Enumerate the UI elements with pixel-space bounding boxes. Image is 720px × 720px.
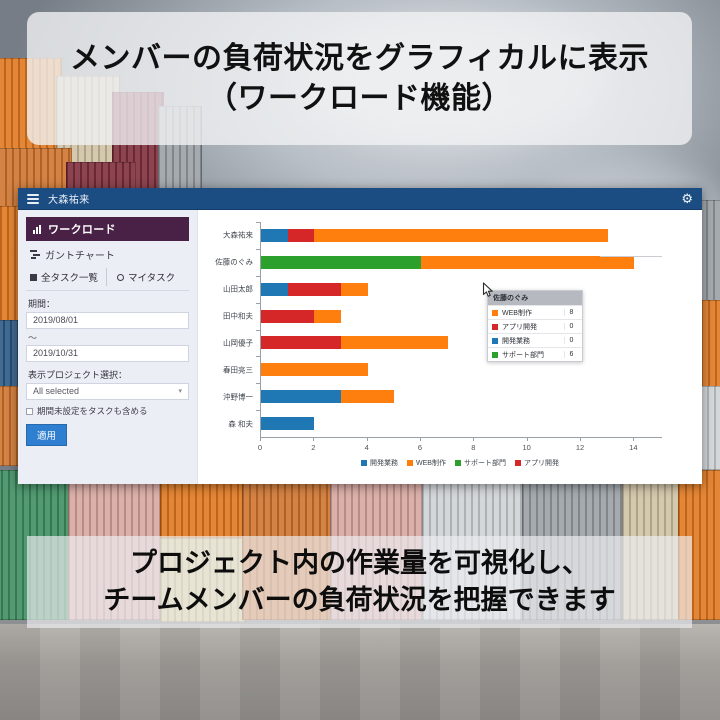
circle-icon	[117, 274, 124, 281]
sidebar-tabs: 全タスク一覧 マイタスク	[26, 268, 189, 291]
tooltip-row: 開発業務0	[488, 333, 582, 347]
square-icon	[30, 274, 37, 281]
tab-my-tasks[interactable]: マイタスク	[106, 268, 183, 286]
x-tick-label: 0	[258, 443, 262, 452]
chevron-down-icon: ▾	[178, 384, 182, 399]
project-select-value: All selected	[33, 384, 79, 399]
tab-all-tasks-label: 全タスク一覧	[41, 270, 98, 284]
x-tick	[367, 437, 368, 441]
tooltip-value: 8	[564, 309, 578, 316]
sidebar-item-gantt-chart[interactable]: ガントチャート	[26, 241, 189, 268]
include-unset-period-checkbox[interactable]	[26, 408, 33, 415]
apply-button[interactable]: 適用	[26, 424, 67, 446]
tooltip-swatch	[492, 324, 498, 330]
x-tick	[527, 437, 528, 441]
x-tick	[580, 437, 581, 441]
bar-segment[interactable]	[314, 229, 607, 242]
tooltip-value: 0	[564, 323, 578, 330]
legend-swatch	[361, 460, 367, 466]
y-axis-label: 山岡優子	[223, 337, 253, 348]
x-tick-label: 14	[629, 443, 637, 452]
x-tick-label: 10	[522, 443, 530, 452]
y-axis-label: 大森祐来	[223, 230, 253, 241]
date-from-input[interactable]: 2019/08/01	[26, 312, 189, 329]
tab-all-tasks[interactable]: 全タスク一覧	[26, 268, 106, 286]
x-tick	[473, 437, 474, 441]
chart-tooltip: 佐藤のぐみ WEB制作8アプリ開発0開発業務0サポート部門6	[487, 290, 583, 362]
x-tick	[633, 437, 634, 441]
period-label: 期間：	[28, 297, 189, 310]
y-axis-label: 佐藤のぐみ	[215, 257, 253, 268]
app-window-screenshot: 大森祐来 ⚙ ワークロード ガントチャート 全タスク一覧 マイタスク	[18, 188, 702, 484]
y-axis-label: 森 和夫	[228, 418, 253, 429]
legend-label: アプリ開発	[524, 458, 559, 468]
x-tick	[420, 437, 421, 441]
x-tick-label: 12	[576, 443, 584, 452]
legend-swatch	[407, 460, 413, 466]
include-unset-period-row[interactable]: 期間未設定をタスクも含める	[26, 405, 189, 417]
bar-segment[interactable]	[261, 363, 368, 376]
tooltip-value: 6	[564, 351, 578, 358]
bar-segment[interactable]	[341, 390, 394, 403]
workload-chart-pane: 02468101214 大森祐来佐藤のぐみ山田太郎田中和夫山岡優子春田亮三沖野博…	[198, 210, 702, 484]
y-axis-label: 沖野博一	[223, 391, 253, 402]
date-range-separator: ～	[28, 331, 189, 344]
legend-item[interactable]: サポート部門	[455, 458, 506, 468]
bar-row[interactable]	[261, 256, 634, 269]
bar-segment[interactable]	[261, 256, 421, 269]
y-axis	[260, 222, 261, 437]
tooltip-row: アプリ開発0	[488, 319, 582, 333]
gear-icon[interactable]: ⚙	[681, 192, 693, 205]
tooltip-swatch	[492, 310, 498, 316]
tooltip-title: 佐藤のぐみ	[488, 291, 582, 305]
sidebar-panel: ワークロード ガントチャート 全タスク一覧 マイタスク 期間： 2019/08/…	[18, 210, 198, 484]
tooltip-label: アプリ開発	[502, 322, 564, 332]
bar-segment[interactable]	[261, 417, 314, 430]
x-axis	[260, 437, 662, 438]
bar-segment[interactable]	[261, 283, 288, 296]
legend-item[interactable]: 開発業務	[361, 458, 398, 468]
bar-row[interactable]	[261, 336, 448, 349]
caption-line-2: チームメンバーの負荷状況を把握できます	[103, 583, 615, 618]
bar-segment[interactable]	[314, 310, 341, 323]
caption-panel: プロジェクト内の作業量を可視化し、 チームメンバーの負荷状況を把握できます	[27, 536, 692, 628]
bar-segment[interactable]	[288, 283, 341, 296]
gantt-label: ガントチャート	[45, 247, 115, 262]
bar-segment[interactable]	[261, 390, 341, 403]
x-tick-label: 4	[365, 443, 369, 452]
bar-segment[interactable]	[288, 229, 315, 242]
legend-label: 開発業務	[370, 458, 398, 468]
y-axis-label: 春田亮三	[223, 364, 253, 375]
headline-line-2: （ワークロード機能）	[207, 80, 512, 118]
caption-line-1: プロジェクト内の作業量を可視化し、	[130, 546, 589, 581]
tooltip-label: 開発業務	[502, 336, 564, 346]
legend-item[interactable]: WEB制作	[407, 458, 446, 468]
headline-line-1: メンバーの負荷状況をグラフィカルに表示	[70, 40, 649, 78]
y-tick	[256, 276, 260, 277]
y-tick	[256, 330, 260, 331]
tooltip-rows: WEB制作8アプリ開発0開発業務0サポート部門6	[488, 305, 582, 361]
y-tick	[256, 356, 260, 357]
y-tick	[256, 383, 260, 384]
headline-panel: メンバーの負荷状況をグラフィカルに表示 （ワークロード機能）	[27, 12, 692, 145]
legend-label: WEB制作	[416, 458, 446, 468]
tooltip-label: サポート部門	[502, 350, 564, 360]
bar-segment[interactable]	[341, 336, 448, 349]
tooltip-value: 0	[564, 337, 578, 344]
y-tick	[256, 222, 260, 223]
app-body: ワークロード ガントチャート 全タスク一覧 マイタスク 期間： 2019/08/…	[18, 210, 702, 484]
include-unset-period-label: 期間未設定をタスクも含める	[37, 405, 148, 417]
bar-row[interactable]	[261, 417, 314, 430]
y-tick	[256, 410, 260, 411]
hamburger-icon[interactable]	[27, 194, 39, 204]
app-user-title: 大森祐来	[48, 191, 90, 206]
bar-row[interactable]	[261, 363, 368, 376]
x-tick-label: 6	[418, 443, 422, 452]
bar-row[interactable]	[261, 229, 608, 242]
tab-my-tasks-label: マイタスク	[128, 270, 175, 284]
legend-label: サポート部門	[464, 458, 506, 468]
x-tick	[313, 437, 314, 441]
bar-chart-plot: 02468101214 大森祐来佐藤のぐみ山田太郎田中和夫山岡優子春田亮三沖野博…	[260, 222, 660, 437]
y-tick	[256, 303, 260, 304]
bar-row[interactable]	[261, 310, 341, 323]
app-top-bar: 大森祐来 ⚙	[18, 188, 702, 210]
date-to-input[interactable]: 2019/10/31	[26, 345, 189, 362]
x-tick	[260, 437, 261, 441]
mouse-cursor-icon	[482, 282, 495, 298]
tooltip-row: WEB制作8	[488, 305, 582, 319]
y-tick	[256, 249, 260, 250]
bar-chart-icon	[33, 225, 43, 234]
y-axis-label: 田中和夫	[223, 311, 253, 322]
x-tick-label: 8	[471, 443, 475, 452]
bar-segment[interactable]	[341, 283, 368, 296]
dock-ground	[0, 624, 720, 720]
tooltip-label: WEB制作	[502, 308, 564, 318]
bar-row[interactable]	[261, 283, 368, 296]
bar-segment[interactable]	[421, 256, 634, 269]
x-tick-label: 2	[311, 443, 315, 452]
bar-row[interactable]	[261, 390, 394, 403]
gantt-icon	[30, 250, 40, 259]
hover-guide-line	[600, 256, 662, 257]
sidebar-item-workload[interactable]: ワークロード	[26, 217, 189, 241]
legend-swatch	[455, 460, 461, 466]
tooltip-swatch	[492, 338, 498, 344]
bar-segment[interactable]	[261, 336, 341, 349]
legend-item[interactable]: アプリ開発	[515, 458, 559, 468]
legend-swatch	[515, 460, 521, 466]
bar-segment[interactable]	[261, 229, 288, 242]
tooltip-swatch	[492, 352, 498, 358]
project-select-label: 表示プロジェクト選択：	[28, 368, 189, 381]
chart-legend: 開発業務WEB制作サポート部門アプリ開発	[260, 458, 660, 468]
tooltip-row: サポート部門6	[488, 347, 582, 361]
y-axis-label: 山田太郎	[223, 284, 253, 295]
project-select[interactable]: All selected ▾	[26, 383, 189, 400]
bar-segment[interactable]	[261, 310, 314, 323]
workload-label: ワークロード	[48, 221, 116, 237]
